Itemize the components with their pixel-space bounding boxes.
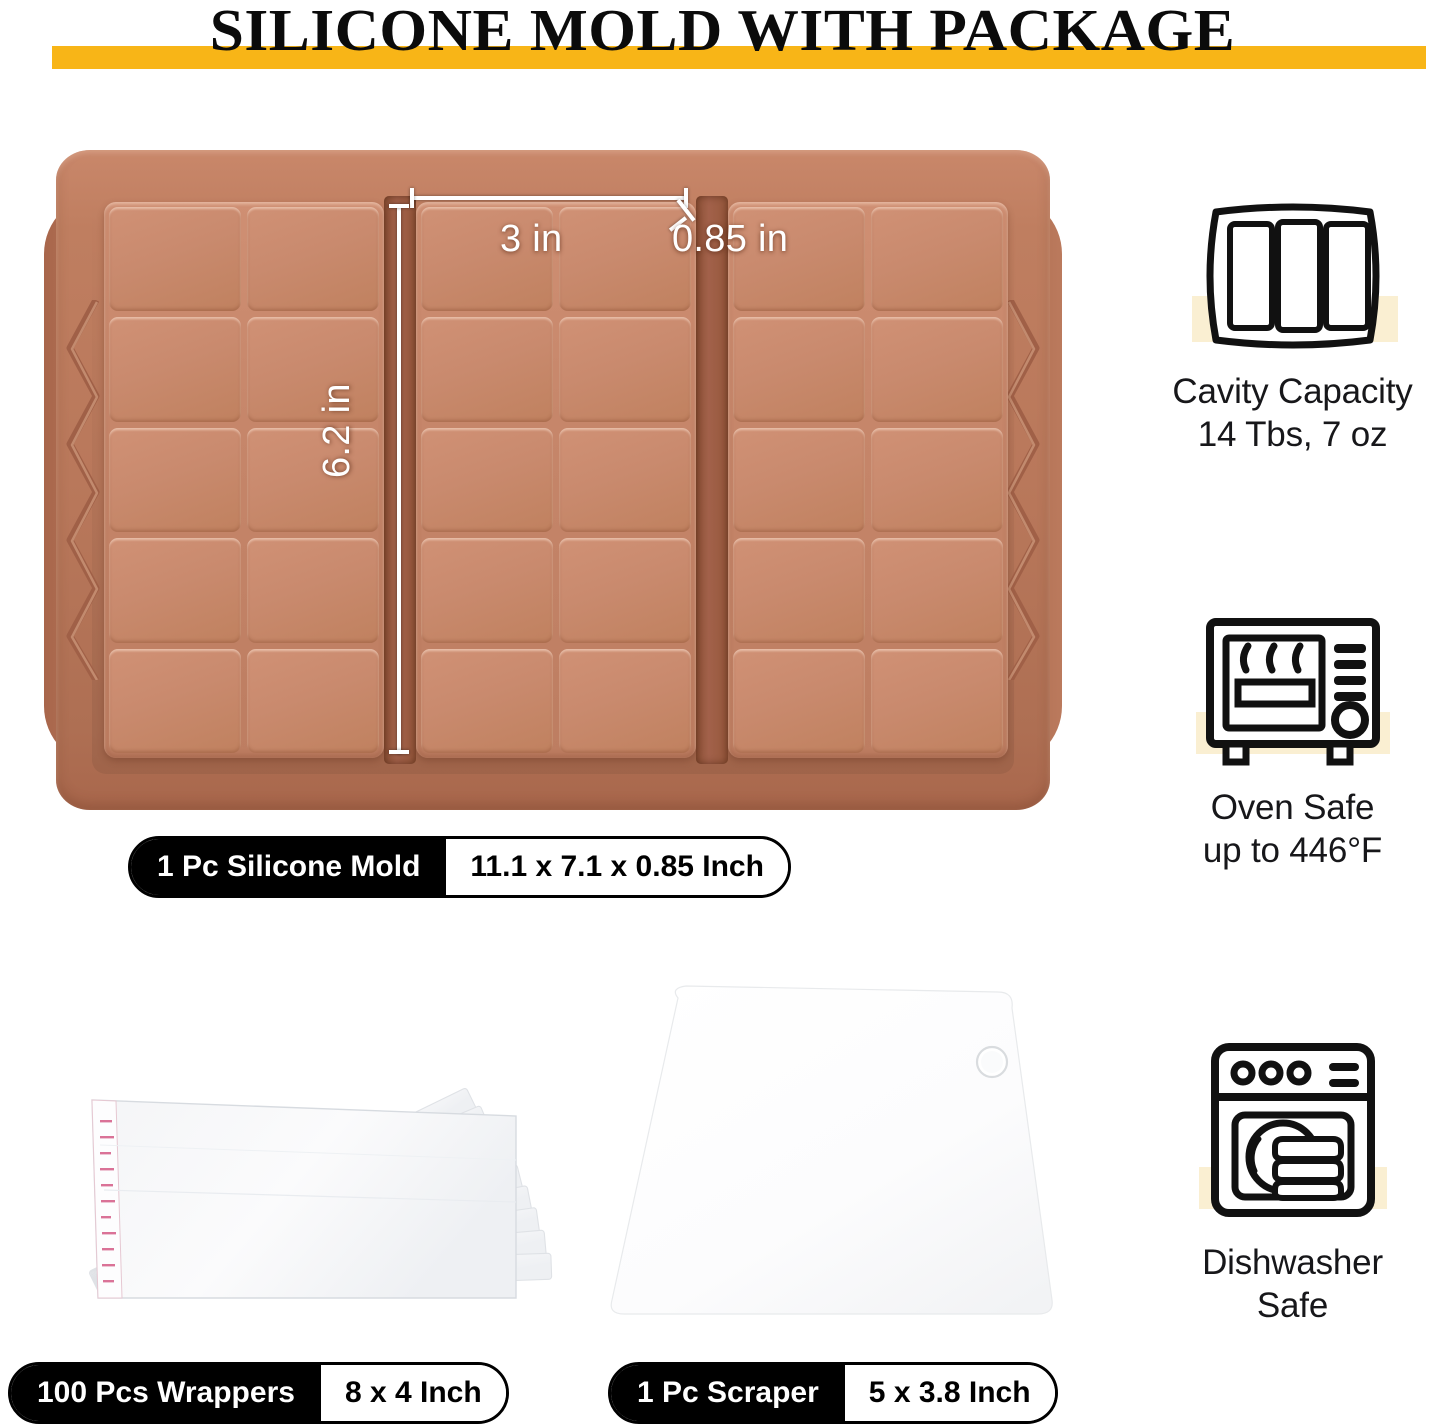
label-pill-scraper: 1 Pc Scraper 5 x 3.8 Inch — [608, 1362, 1058, 1424]
mold-cell — [733, 649, 865, 753]
height-dimension-line — [397, 206, 401, 754]
feature-line1: Oven Safe — [1211, 788, 1375, 827]
mold-cell — [871, 317, 1003, 421]
label-pill-wrappers: 100 Pcs Wrappers 8 x 4 Inch — [8, 1362, 509, 1424]
oven-icon — [1140, 608, 1445, 776]
label-pill-mold-title: 1 Pc Silicone Mold — [131, 839, 446, 895]
feature-line1: Cavity Capacity — [1172, 372, 1412, 411]
bar-1-cells — [109, 207, 379, 753]
mold-cell — [421, 649, 553, 753]
mold-cell — [109, 649, 241, 753]
label-pill-mold: 1 Pc Silicone Mold 11.1 x 7.1 x 0.85 Inc… — [128, 836, 791, 898]
feature-oven-safe: Oven Safe up to 446°F — [1140, 608, 1445, 873]
bar-3-cells — [733, 207, 1003, 753]
mold-cell — [871, 538, 1003, 642]
label-pill-scraper-value: 5 x 3.8 Inch — [845, 1365, 1055, 1421]
page-title: SILICONE MOLD WITH PACKAGE — [0, 0, 1445, 65]
mold-cell — [559, 538, 691, 642]
mold-cell — [871, 649, 1003, 753]
mold-cell — [247, 428, 379, 532]
label-pill-scraper-title: 1 Pc Scraper — [611, 1365, 845, 1421]
bar-2-cells — [421, 207, 691, 753]
wrapper-front-bag — [92, 1100, 516, 1298]
page-header: SILICONE MOLD WITH PACKAGE — [0, 0, 1445, 92]
mold-cell — [109, 428, 241, 532]
mold-bar-cavity-3 — [728, 202, 1008, 758]
mold-channel-2 — [696, 196, 728, 764]
mold-cell — [559, 317, 691, 421]
label-pill-mold-value: 11.1 x 7.1 x 0.85 Inch — [446, 839, 788, 895]
mold-cell — [733, 428, 865, 532]
mold-cell — [109, 538, 241, 642]
mold-cell — [871, 428, 1003, 532]
mold-bar-cavity-1 — [104, 202, 384, 758]
width-dimension-line — [412, 196, 686, 200]
label-pill-wrappers-value: 8 x 4 Inch — [321, 1365, 506, 1421]
feature-line1: Dishwasher — [1202, 1243, 1383, 1282]
feature-dishwasher-safe: Dishwasher Safe — [1140, 1035, 1445, 1328]
height-dimension-cap-top — [389, 204, 409, 208]
dough-scraper-image — [600, 970, 1060, 1330]
feature-oven-safe-caption: Oven Safe up to 446°F — [1140, 786, 1445, 873]
mold-cell — [871, 207, 1003, 311]
mold-cell — [421, 428, 553, 532]
mold-cell — [421, 317, 553, 421]
oven-leg-right — [1330, 744, 1350, 762]
mold-cell — [247, 207, 379, 311]
cellophane-wrappers-image — [40, 940, 600, 1340]
feature-line2: 14 Tbs, 7 oz — [1140, 413, 1445, 456]
mold-cell — [247, 317, 379, 421]
width-dimension-cap-left — [410, 188, 414, 208]
oven-knob — [1335, 705, 1365, 735]
dishwasher-knobs — [1234, 1064, 1308, 1082]
height-dimension-label: 6.2 in — [316, 383, 359, 478]
mold-cell — [733, 538, 865, 642]
feature-dishwasher-safe-caption: Dishwasher Safe — [1140, 1241, 1445, 1328]
mold-right-grip-ribs — [1006, 300, 1040, 680]
thickness-dimension-label: 0.85 in — [672, 218, 788, 261]
mold-cell — [733, 317, 865, 421]
feature-line2: Safe — [1140, 1284, 1445, 1327]
mold-cell — [247, 538, 379, 642]
label-pill-wrappers-title: 100 Pcs Wrappers — [11, 1365, 321, 1421]
dishwasher-icon — [1140, 1035, 1445, 1231]
height-dimension-cap-bottom — [389, 750, 409, 754]
mold-cell — [421, 538, 553, 642]
oven-leg-left — [1226, 744, 1246, 762]
feature-cavity-capacity-caption: Cavity Capacity 14 Tbs, 7 oz — [1140, 370, 1445, 457]
mold-bar-cavity-2 — [416, 202, 696, 758]
feature-cavity-capacity: Cavity Capacity 14 Tbs, 7 oz — [1140, 190, 1445, 457]
mold-cell — [109, 207, 241, 311]
wrapper-bag-stack — [89, 1088, 552, 1298]
mold-cell — [559, 649, 691, 753]
mold-left-grip-ribs — [66, 300, 100, 680]
width-dimension-label: 3 in — [500, 218, 562, 261]
mold-cell — [109, 317, 241, 421]
dish-stack — [1275, 1139, 1341, 1198]
scraper-blade — [611, 986, 1052, 1314]
mold-cell — [247, 649, 379, 753]
feature-line2: up to 446°F — [1140, 829, 1445, 872]
mold-tray-icon — [1140, 190, 1445, 360]
mold-cell — [559, 428, 691, 532]
